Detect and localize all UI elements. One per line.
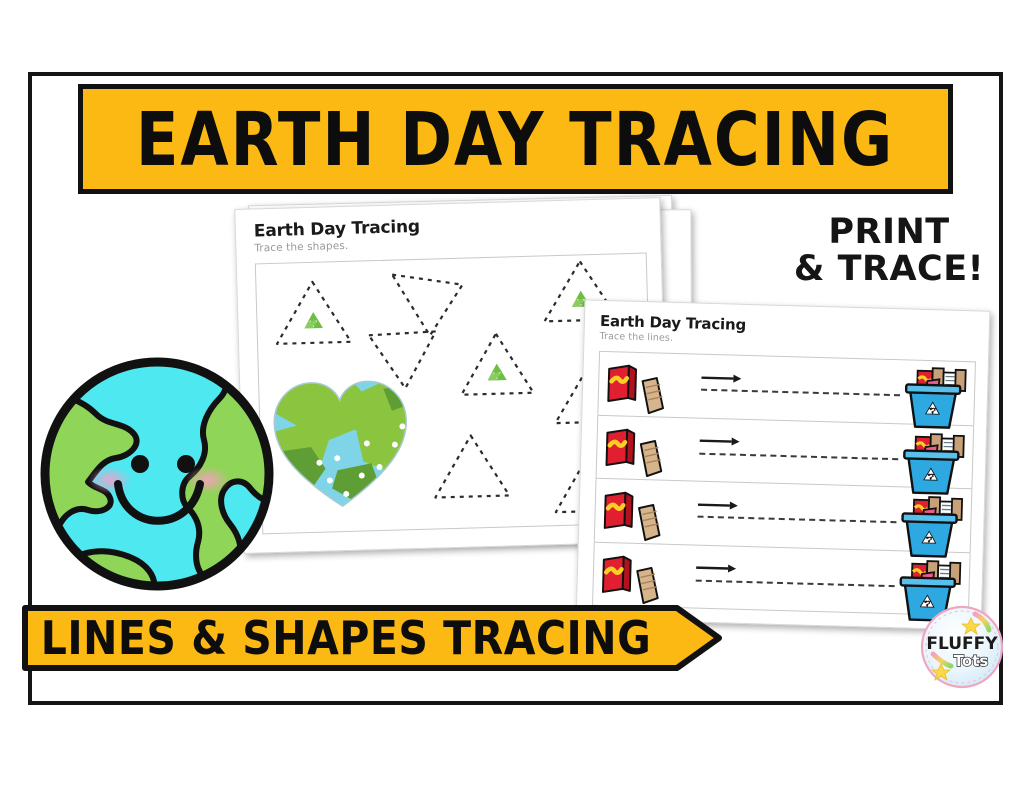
row-start-items [598, 352, 692, 417]
worksheet-lines[interactable]: Earth Day Tracing Trace the lines. [576, 299, 991, 630]
direction-arrow-icon [698, 499, 738, 510]
title-banner: EARTH DAY TRACING [78, 84, 953, 194]
dashed-trace-line[interactable] [699, 453, 898, 461]
row-trace-area[interactable] [687, 481, 894, 549]
poster-canvas: EARTH DAY TRACING Earth Day Tracing Trac… [0, 0, 1024, 792]
worksheet-lines-body [592, 351, 976, 616]
dashed-trace-line[interactable] [701, 389, 900, 397]
trace-triangle[interactable] [429, 429, 515, 503]
badge-line-1: PRINT [828, 212, 949, 252]
trace-line-row[interactable] [595, 479, 972, 553]
row-end-item [895, 360, 975, 425]
brand-logo[interactable]: FLUFFY Tots [919, 604, 1005, 690]
direction-arrow-icon [700, 436, 740, 447]
footer-banner-label: LINES & SHAPES TRACING [22, 601, 670, 676]
trace-triangle[interactable] [454, 329, 540, 403]
cereal-box-icon [603, 427, 638, 468]
badge-line-2: & TRACE! [780, 251, 998, 288]
earth-mascot-icon [38, 352, 276, 596]
dashed-trace-line[interactable] [696, 579, 895, 587]
row-trace-area[interactable] [685, 545, 892, 613]
row-end-item [893, 424, 973, 489]
cardboard-roll-icon [636, 375, 667, 418]
recycling-bin-icon [895, 364, 971, 432]
cereal-box-icon [605, 363, 640, 404]
page-title: EARTH DAY TRACING [136, 102, 894, 176]
print-and-trace-badge: PRINT & TRACE! [780, 214, 998, 289]
row-trace-area[interactable] [689, 418, 896, 486]
row-start-items [595, 479, 689, 544]
dashed-trace-line[interactable] [697, 516, 896, 524]
earth-heart-icon [265, 370, 417, 514]
cereal-box-icon [601, 490, 636, 531]
cereal-box-icon [599, 554, 634, 595]
trace-line-row[interactable] [598, 352, 975, 426]
row-start-items [593, 542, 687, 607]
direction-arrow-icon [696, 563, 736, 574]
cardboard-roll-icon [634, 439, 665, 482]
row-end-item [892, 487, 972, 552]
trace-line-row[interactable] [597, 415, 974, 489]
row-start-items [597, 415, 691, 480]
direction-arrow-icon [701, 372, 741, 383]
footer-banner: LINES & SHAPES TRACING [22, 605, 722, 671]
trace-triangle[interactable] [270, 276, 356, 350]
logo-brand-sub: Tots [954, 652, 989, 670]
row-trace-area[interactable] [690, 354, 897, 422]
cardboard-roll-icon [633, 502, 664, 545]
logo-brand-main: FLUFFY [926, 634, 998, 654]
